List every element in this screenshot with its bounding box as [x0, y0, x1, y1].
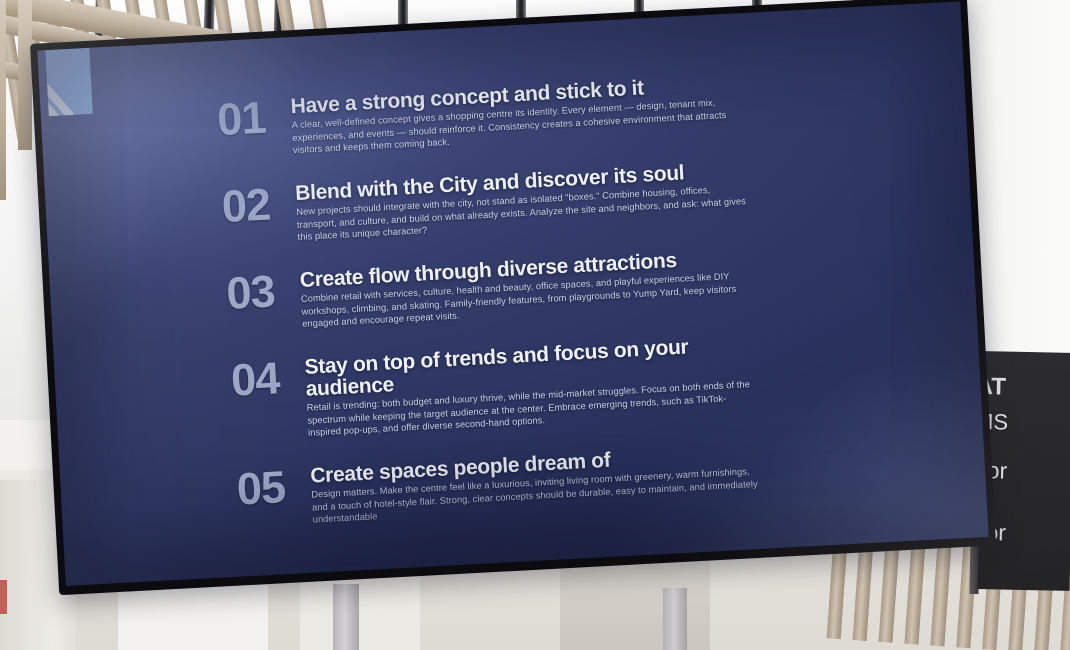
item-number: 05: [236, 465, 312, 510]
list-item: 05 Create spaces people dream of Design …: [236, 438, 818, 531]
list-item: 01 Have a strong concept and stick to it…: [216, 68, 798, 161]
screen-surface: 01 Have a strong concept and stick to it…: [37, 1, 988, 585]
item-number: 04: [230, 356, 306, 401]
item-number: 03: [225, 269, 301, 314]
list-item: 03 Create flow through diverse attractio…: [225, 242, 807, 335]
photo-scene: AT MS oor oor 01 Have a: [0, 0, 1070, 650]
item-number: 02: [221, 182, 297, 227]
brand-logo-icon: [45, 48, 92, 116]
slide-content: 01 Have a strong concept and stick to it…: [216, 68, 818, 530]
list-item: 04 Stay on top of trends and focus on yo…: [230, 329, 814, 444]
list-item: 02 Blend with the City and discover its …: [221, 155, 803, 248]
tv-bezel: 01 Have a strong concept and stick to it…: [30, 0, 996, 595]
item-number: 01: [216, 95, 292, 140]
display-screen-assembly: 01 Have a strong concept and stick to it…: [0, 0, 1070, 650]
